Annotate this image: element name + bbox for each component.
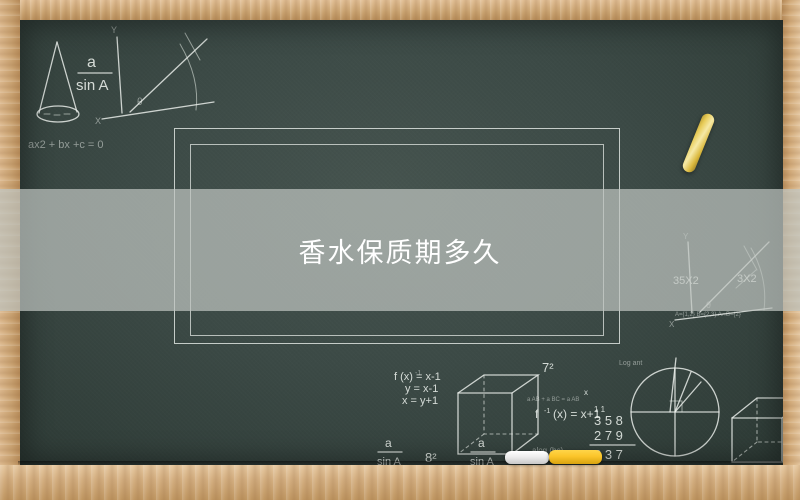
chalk-white-icon [505, 451, 549, 464]
svg-text:x = y+1: x = y+1 [402, 395, 438, 407]
frame-top-rail [0, 0, 800, 20]
page-title: 香水保质期多久 [0, 189, 800, 311]
chalk-yellow-icon [549, 450, 602, 464]
svg-text:-1: -1 [544, 408, 550, 415]
svg-text:y = x-1: y = x-1 [405, 383, 438, 395]
exponent-seven-squared: 7² [542, 360, 554, 375]
cube-drawing-right [732, 398, 783, 462]
log-ant-label: Log ant [619, 360, 642, 367]
axes-angle-topleft: Y X θ [95, 25, 214, 126]
cube-drawing-left [458, 375, 538, 454]
cone-drawing [37, 42, 79, 122]
svg-text:3 5 8: 3 5 8 [594, 413, 623, 428]
blackboard-banner-image: a sin A ax2 + bx +c = 0 Y X θ f (x) = x-… [0, 0, 800, 500]
svg-text:X: X [95, 116, 101, 126]
svg-text:-1: -1 [415, 370, 421, 377]
svg-text:a: a [385, 436, 392, 450]
quadratic-equation: ax2 + bx +c = 0 [28, 139, 104, 151]
vector-formula: a AB + a BC = a AB [527, 397, 579, 403]
svg-text:2 7 9: 2 7 9 [594, 428, 623, 443]
function-equations: f (x) = x-1 y = x-1 x = y+1 -1 [394, 370, 441, 407]
fraction-a-sin-a-topleft: a sin A [76, 54, 112, 94]
svg-text:a: a [87, 54, 96, 71]
frame-bottom-ledge [0, 465, 800, 500]
svg-text:a: a [478, 436, 485, 450]
inverse-function-equation: f -1 (x) = x+1 [535, 407, 601, 421]
svg-text:Y: Y [111, 25, 117, 35]
circle-sector-diagram [631, 358, 719, 456]
svg-text:sin A: sin A [76, 77, 109, 94]
svg-text:X: X [669, 320, 675, 329]
svg-text:x: x [584, 388, 588, 397]
svg-text:θ: θ [137, 97, 143, 108]
